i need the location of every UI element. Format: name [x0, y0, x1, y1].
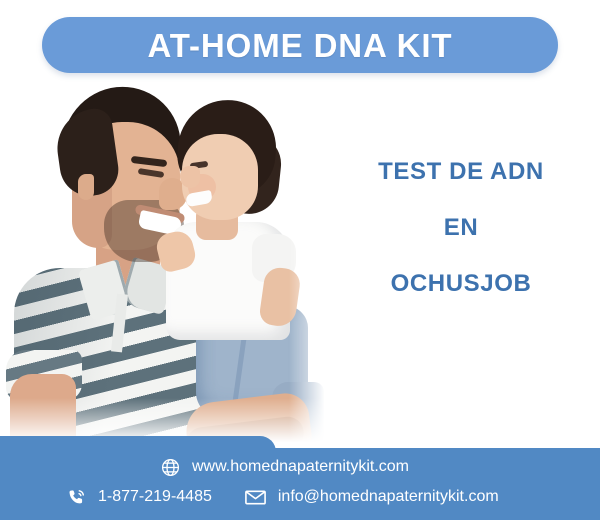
footer-email-item[interactable]: info@homednapaternitykit.com: [244, 485, 499, 509]
footer-contact-row: 1-877-219-4485 info@homednapaternitykit.…: [64, 485, 499, 509]
photo-canvas: [0, 82, 335, 452]
globe-icon: [158, 455, 182, 479]
header-title: AT-HOME DNA KIT: [148, 29, 453, 62]
phone-icon: [64, 485, 88, 509]
child-nose: [180, 166, 200, 188]
family-photo: [0, 82, 335, 452]
subject-line-1: TEST DE ADN: [330, 160, 592, 184]
footer-email-label: info@homednapaternitykit.com: [278, 489, 499, 505]
footer-website-label: www.homednapaternitykit.com: [192, 459, 409, 475]
footer-website-item[interactable]: www.homednapaternitykit.com: [158, 455, 409, 479]
photo-right-fade: [289, 82, 335, 452]
footer-website-row: www.homednapaternitykit.com: [158, 455, 409, 479]
envelope-icon: [244, 485, 268, 509]
subject-line-3: OCHUSJOB: [330, 272, 592, 296]
footer-phone-item[interactable]: 1-877-219-4485: [64, 485, 212, 509]
subject-text-block: TEST DE ADN EN OCHUSJOB: [330, 160, 592, 296]
header-banner: AT-HOME DNA KIT: [42, 17, 558, 73]
promo-poster: AT-HOME DNA KIT: [0, 0, 600, 520]
subject-line-2: EN: [330, 216, 592, 240]
footer-phone-label: 1-877-219-4485: [98, 489, 212, 505]
footer-contact-rows: www.homednapaternitykit.com 1-877-219-44…: [0, 448, 600, 520]
man-ear: [78, 174, 94, 200]
